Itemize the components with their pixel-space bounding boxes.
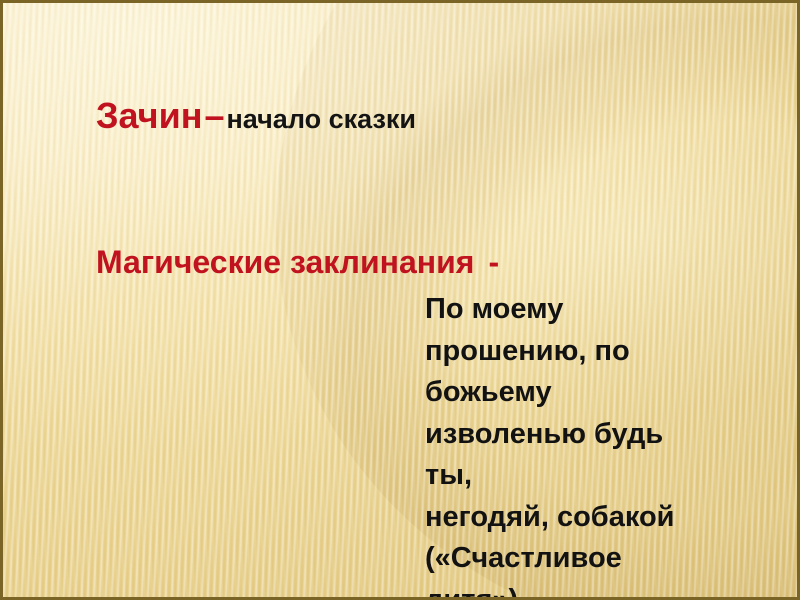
quote-line: ты, — [425, 455, 725, 497]
quote-line: прошению, по — [425, 331, 725, 373]
quote-line: («Счастливое — [425, 538, 725, 580]
definition-zachin: начало сказки — [226, 104, 416, 134]
term-magic-spells: Магические заклинания — [96, 244, 474, 280]
quote-line: божьему — [425, 372, 725, 414]
slide-canvas: Зачин–начало сказки Магические заклинани… — [0, 0, 800, 600]
quote-line: изволенью будь — [425, 414, 725, 456]
term-zachin: Зачин — [96, 95, 202, 136]
heading-trailing-dash: - — [474, 244, 499, 280]
quote-line: негодяй, собакой — [425, 497, 725, 539]
quote-line: По моему — [425, 289, 725, 331]
heading-magic-spells: Магические заклинания- — [96, 244, 499, 281]
term-dash-separator: – — [202, 95, 226, 136]
definition-line-zachin: Зачин–начало сказки — [96, 95, 416, 137]
quote-line: дитя») — [425, 580, 725, 600]
slide-content: Зачин–начало сказки Магические заклинани… — [3, 3, 797, 597]
spell-quote-block: По моему прошению, по божьему изволенью … — [425, 289, 725, 600]
